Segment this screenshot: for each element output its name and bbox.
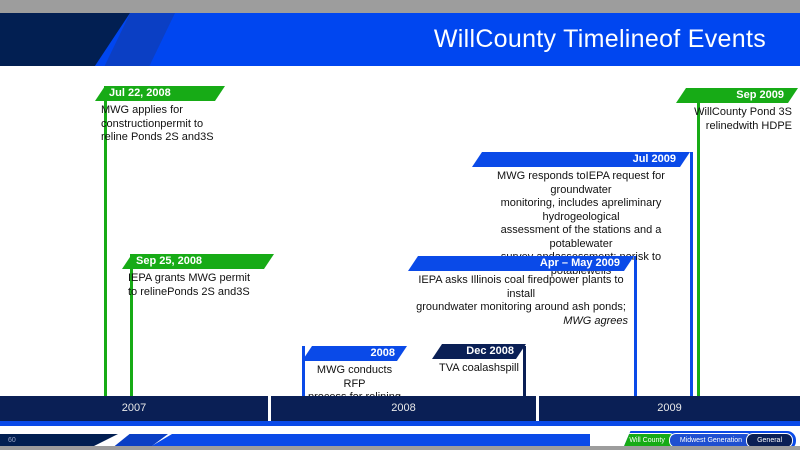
- event-date-label: Dec 2008: [466, 344, 514, 359]
- axis-year-2009: 2009: [539, 396, 800, 421]
- event-line: IEPA grants MWG permit: [128, 272, 268, 286]
- timeline-axis: 2007 2008 2009: [0, 396, 800, 421]
- event-line: assessment of the stations and a potable…: [478, 224, 684, 251]
- event-date-bar: Jul 22, 2008: [95, 86, 225, 101]
- slide-header: WillCounty Timelineof Events: [0, 13, 800, 66]
- event-body: IEPA asks Illinois coal firedpower plant…: [408, 271, 634, 330]
- event-box-sep-2009[interactable]: Sep 2009 WillCounty Pond 3S relinedwith …: [676, 88, 798, 135]
- event-line: constructionpermit to: [101, 118, 219, 132]
- event-line: MWG applies for: [101, 104, 219, 118]
- event-date-bar: Dec 2008: [432, 344, 526, 359]
- event-emphasis-text: MWG agrees: [563, 315, 628, 327]
- connector-jul-2009: [690, 152, 693, 398]
- event-date-label: Sep 2009: [736, 88, 784, 103]
- event-date-label: Jul 22, 2008: [109, 86, 171, 101]
- event-date-bar: Sep 2009: [676, 88, 798, 103]
- axis-year-2008: 2008: [271, 396, 536, 421]
- event-line: groundwater monitoring around ash ponds;: [414, 301, 628, 315]
- event-date-label: 2008: [371, 346, 395, 361]
- event-date-bar: Jul 2009: [472, 152, 690, 167]
- event-box-sep-25-2008[interactable]: Sep 25, 2008 IEPA grants MWG permit to r…: [122, 254, 274, 301]
- axis-year-2007: 2007: [0, 396, 268, 421]
- event-body: TVA coalashspill: [432, 359, 526, 378]
- event-box-jul-22-2008[interactable]: Jul 22, 2008 MWG applies for constructio…: [95, 86, 225, 147]
- bottom-grey-strip: [0, 446, 800, 450]
- event-date-label: Apr – May 2009: [540, 256, 620, 271]
- event-body: WillCounty Pond 3S relinedwith HDPE: [676, 103, 798, 135]
- event-line: relinedwith HDPE: [682, 120, 792, 134]
- event-date-bar: Sep 25, 2008: [122, 254, 274, 269]
- event-body: IEPA grants MWG permit to relinePonds 2S…: [122, 269, 274, 301]
- event-box-dec-2008[interactable]: Dec 2008 TVA coalashspill: [432, 344, 526, 378]
- event-date-bar: 2008: [302, 346, 407, 361]
- event-date-label: Sep 25, 2008: [136, 254, 202, 269]
- event-line: MWG conducts RFP: [308, 364, 401, 391]
- event-line: to relinePonds 2S and3S: [128, 286, 268, 300]
- event-line: monitoring, includes apreliminary hydrog…: [478, 197, 684, 224]
- event-line-emphasis: MWG agrees: [414, 315, 628, 329]
- event-line: WillCounty Pond 3S: [682, 106, 792, 120]
- event-date-label: Jul 2009: [633, 152, 676, 167]
- axis-underline: [0, 421, 800, 426]
- event-line: reline Ponds 2S and3S: [101, 131, 219, 145]
- top-grey-strip: [0, 0, 800, 13]
- page-title: WillCounty Timelineof Events: [434, 13, 766, 66]
- event-box-apr-may-2009[interactable]: Apr – May 2009 IEPA asks Illinois coal f…: [408, 256, 634, 330]
- slide: WillCounty Timelineof Events Jul 22, 200…: [0, 0, 800, 450]
- event-body: MWG applies for constructionpermit to re…: [95, 101, 225, 147]
- event-line: MWG responds toIEPA request for groundwa…: [478, 170, 684, 197]
- event-line: TVA coalashspill: [438, 362, 520, 376]
- event-line: IEPA asks Illinois coal firedpower plant…: [414, 274, 628, 301]
- event-date-bar: Apr – May 2009: [408, 256, 634, 271]
